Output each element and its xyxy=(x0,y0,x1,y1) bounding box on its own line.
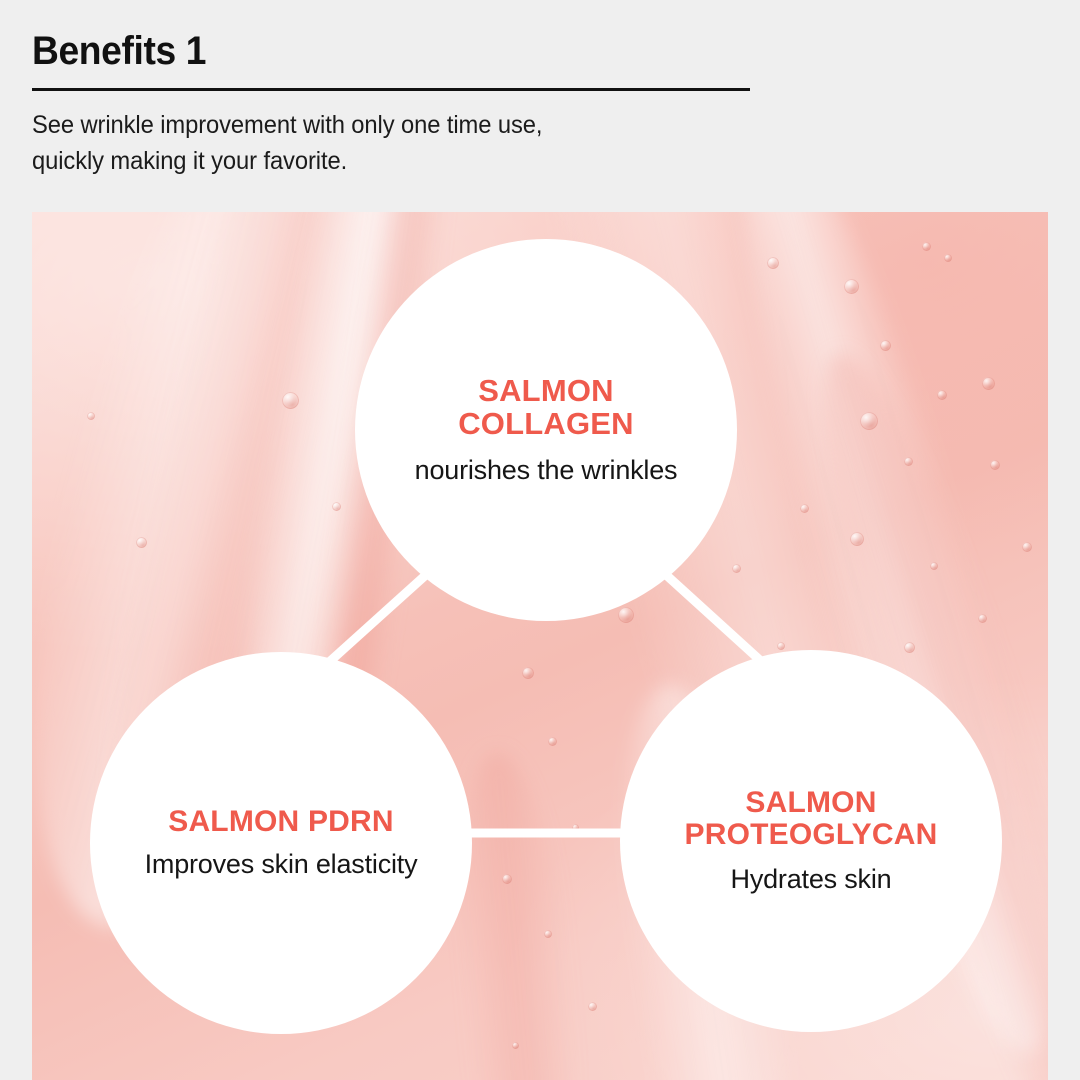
hero-image-panel: SALMON COLLAGEN nourishes the wrinkles S… xyxy=(32,212,1048,1080)
page-title: Benefits 1 xyxy=(32,30,702,72)
benefit-subtitle-pdrn: Improves skin elasticity xyxy=(145,848,418,880)
header: Benefits 1 See wrinkle improvement with … xyxy=(32,30,752,179)
title-divider xyxy=(32,88,750,91)
benefit-title-pdrn: SALMON PDRN xyxy=(168,806,394,838)
page-subtitle: See wrinkle improvement with only one ti… xyxy=(32,108,716,179)
benefit-subtitle-collagen: nourishes the wrinkles xyxy=(415,454,678,486)
benefit-circle-proteoglycan[interactable]: SALMON PROTEOGLYCAN Hydrates skin xyxy=(620,650,1002,1032)
benefit-circle-collagen[interactable]: SALMON COLLAGEN nourishes the wrinkles xyxy=(355,239,737,621)
benefit-title-proteoglycan: SALMON PROTEOGLYCAN xyxy=(685,787,938,852)
benefit-title-collagen: SALMON COLLAGEN xyxy=(458,374,634,441)
page-root: Benefits 1 See wrinkle improvement with … xyxy=(0,0,1080,1080)
benefit-circle-pdrn[interactable]: SALMON PDRN Improves skin elasticity xyxy=(90,652,472,1034)
benefit-subtitle-proteoglycan: Hydrates skin xyxy=(731,863,892,895)
